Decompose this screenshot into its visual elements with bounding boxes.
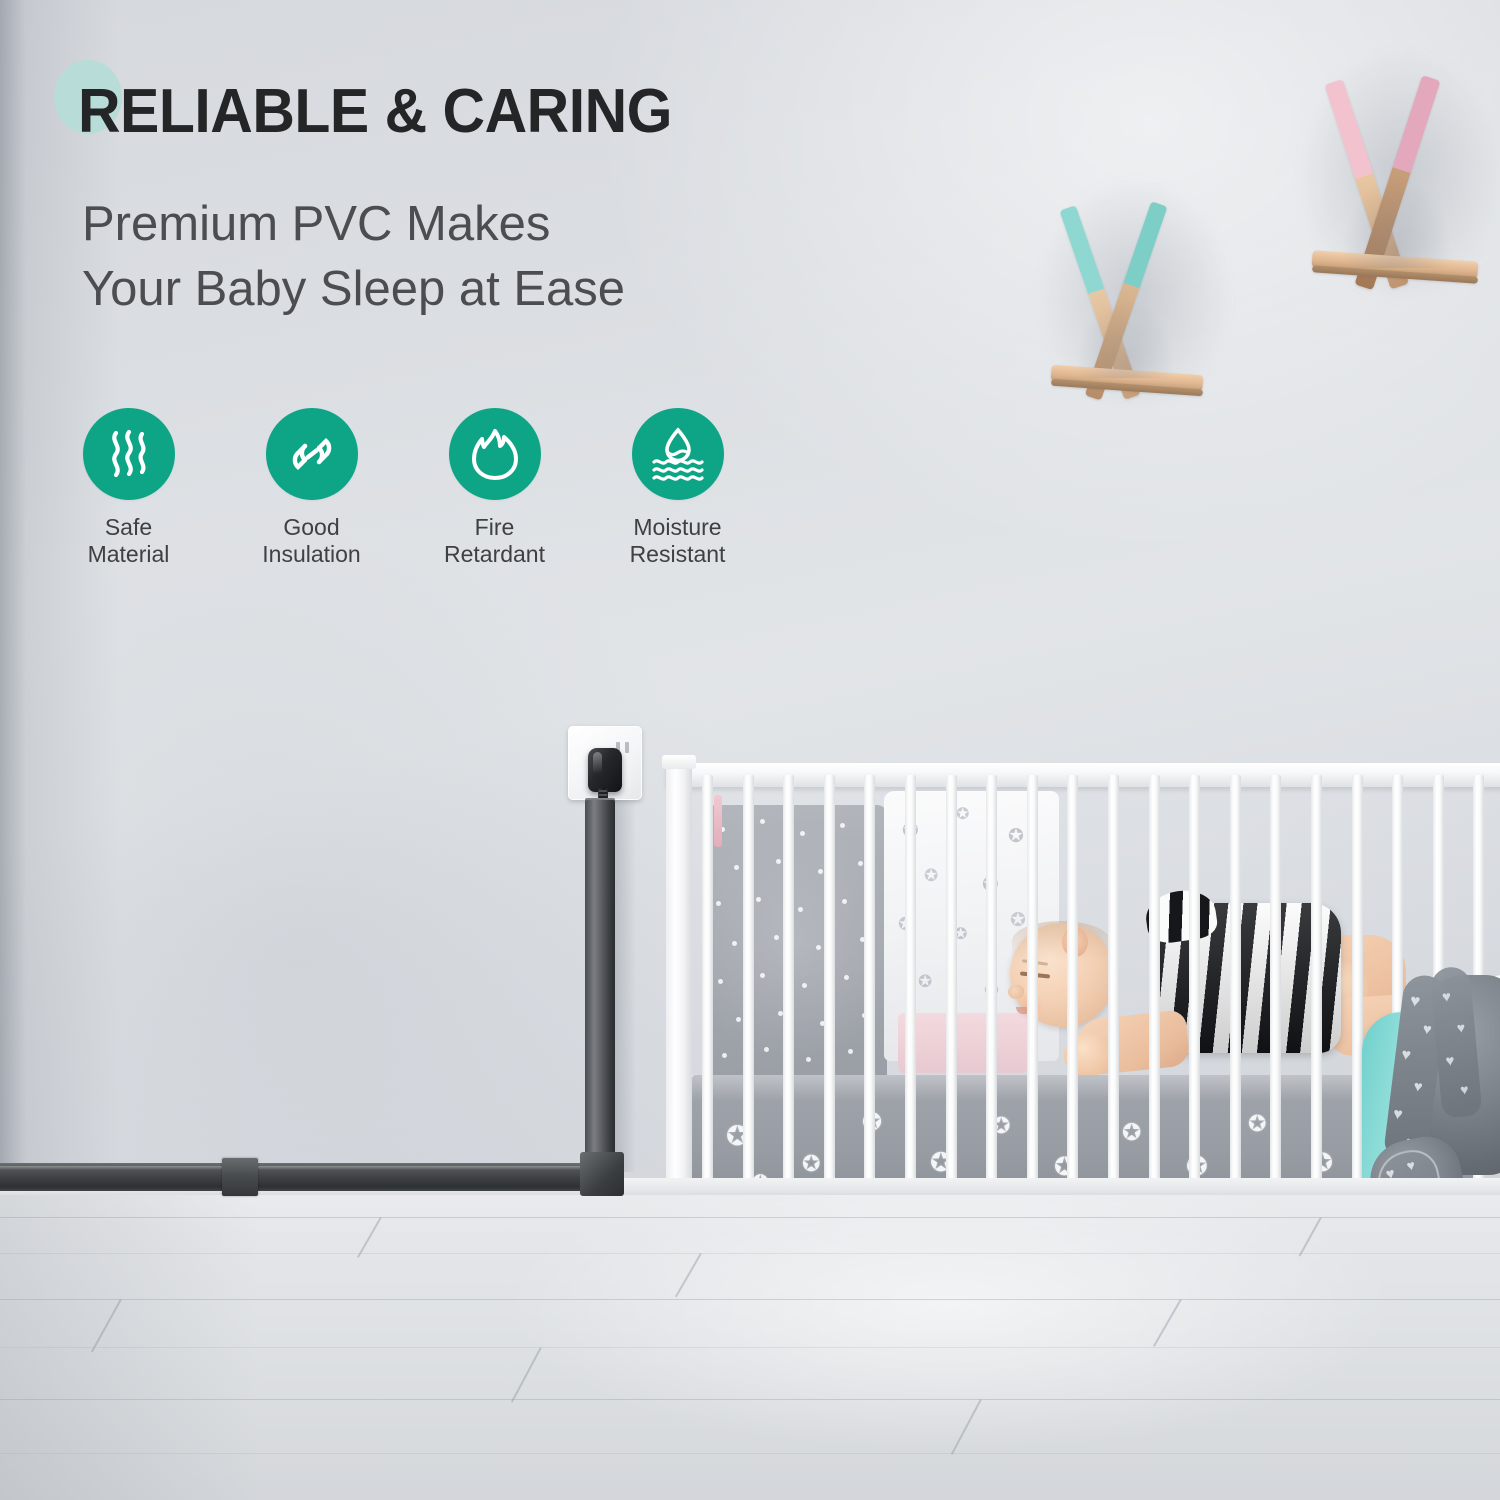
feature-good-insulation: Good Insulation xyxy=(259,408,364,568)
feature-fire-retardant: Fire Retardant xyxy=(442,408,547,568)
feature-label-line-1: Safe xyxy=(88,514,170,541)
raceway-shadow xyxy=(614,800,636,1172)
crib-corner-post-cap xyxy=(662,755,696,769)
teepee-wall-shelf-mint xyxy=(1055,178,1235,403)
feature-label-line-1: Fire xyxy=(444,514,545,541)
water-drop-waves-icon xyxy=(632,408,724,500)
vertical-cord-raceway xyxy=(585,800,615,1170)
raceway-coupler xyxy=(222,1158,258,1196)
shelf-inner-shadow xyxy=(1075,298,1175,378)
pillow-pink-tag xyxy=(714,795,722,847)
polka-dot-pillow xyxy=(702,805,887,1080)
wall-corner-shading xyxy=(0,0,26,1190)
feature-label-line-2: Insulation xyxy=(262,541,360,568)
steam-waves-icon xyxy=(83,408,175,500)
feature-label-line-2: Resistant xyxy=(630,541,726,568)
plug-highlight xyxy=(593,752,602,774)
page-title: RELIABLE & CARING xyxy=(78,76,672,147)
feature-label-line-1: Good xyxy=(262,514,360,541)
feature-label-line-1: Moisture xyxy=(630,514,726,541)
feature-label-line-2: Retardant xyxy=(444,541,545,568)
subtitle: Premium PVC Makes Your Baby Sleep at Eas… xyxy=(82,192,625,322)
feature-safe-material: Safe Material xyxy=(76,408,181,568)
feature-list: Safe Material Good Insulation Fire xyxy=(76,408,730,568)
baby-nose xyxy=(1008,985,1024,999)
feature-label: Safe Material xyxy=(88,514,170,568)
feature-label-line-2: Material xyxy=(88,541,170,568)
chain-link-icon xyxy=(266,408,358,500)
flame-icon xyxy=(449,408,541,500)
teepee-wall-shelf-pink xyxy=(1318,58,1500,308)
raceway-corner-elbow xyxy=(580,1152,624,1196)
subtitle-line-2: Your Baby Sleep at Ease xyxy=(82,257,625,322)
feature-label: Fire Retardant xyxy=(444,514,545,568)
shelf-inner-shadow xyxy=(1342,178,1452,268)
outlet-slot-right xyxy=(625,742,629,753)
subtitle-line-1: Premium PVC Makes xyxy=(82,192,625,257)
feature-label: Moisture Resistant xyxy=(630,514,726,568)
feature-label: Good Insulation xyxy=(262,514,360,568)
wood-plank-floor xyxy=(0,1195,1500,1500)
feature-moisture-resistant: Moisture Resistant xyxy=(625,408,730,568)
